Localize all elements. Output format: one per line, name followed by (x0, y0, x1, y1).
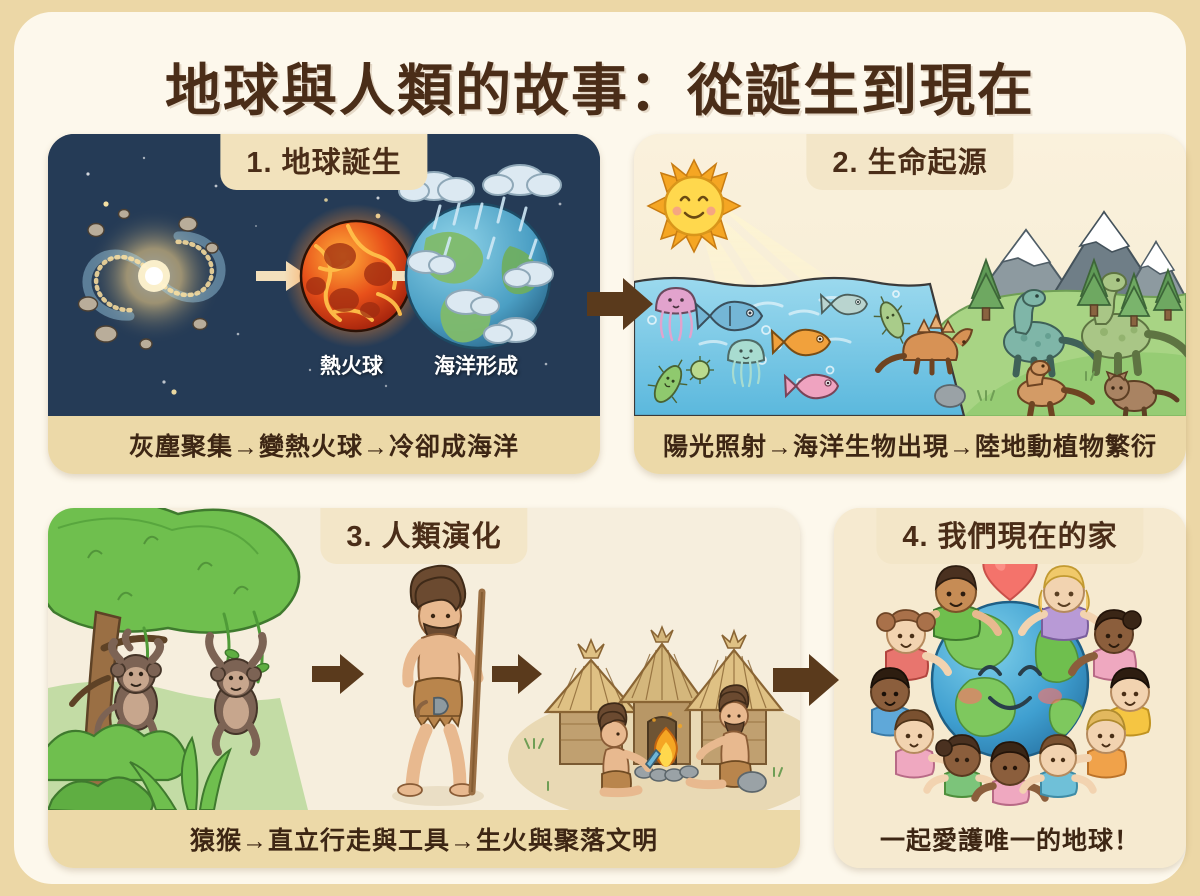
panel-caption-1: 灰塵聚集→變熱火球→冷卻成海洋 (48, 416, 600, 474)
panel-our-home[interactable]: 4. 我們現在的家 一起愛護唯一的地球！ (834, 508, 1186, 868)
panel-caption-3: 猿猴→直立行走與工具→生火與聚落文明 (48, 810, 800, 868)
panel-badge-4: 4. 我們現在的家 (876, 508, 1143, 564)
panel-origin-of-life[interactable]: 2. 生命起源 陽光照射→海洋生物出現→陸地動植物繁衍 (634, 134, 1186, 474)
panel-human-evolution[interactable]: 3. 人類演化 猿猴→直立行走與工具→生火與聚落文明 (48, 508, 800, 868)
panel-badge-1: 1. 地球誕生 (220, 134, 427, 190)
tree (48, 508, 299, 633)
page-title: 地球與人類的故事：從誕生到現在 (14, 46, 1186, 127)
panel-badge-3: 3. 人類演化 (320, 508, 527, 564)
arrow-panel1-to-panel2 (585, 274, 655, 334)
panel-caption-4: 一起愛護唯一的地球！ (834, 810, 1186, 868)
poster-root: 地球與人類的故事：從誕生到現在 (14, 12, 1186, 884)
arrow-panel3-to-panel4 (771, 650, 841, 710)
sublabel-hot-fireball: 熱火球 (320, 350, 383, 380)
sun-icon (648, 160, 740, 252)
panel-caption-2: 陽光照射→海洋生物出現→陸地動植物繁衍 (634, 416, 1186, 474)
sublabel-ocean-formed: 海洋形成 (434, 350, 518, 380)
panel-earth-birth[interactable]: 熱火球 海洋形成 1. 地球誕生 灰塵聚集→變熱火球→冷卻成海洋 (48, 134, 600, 474)
panel-badge-2: 2. 生命起源 (806, 134, 1013, 190)
